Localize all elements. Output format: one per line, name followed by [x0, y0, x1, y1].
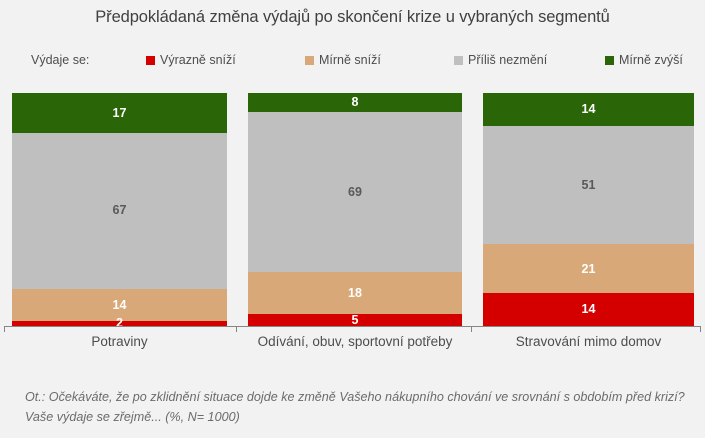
bar-segment-value: 14: [113, 299, 127, 312]
bar-segment-value: 67: [113, 204, 127, 217]
stacked-bar[interactable]: 14512114: [483, 93, 694, 326]
bar-segment[interactable]: 14: [483, 293, 694, 326]
axis-tick: [236, 327, 237, 332]
legend-item[interactable]: Mírně zvýší: [605, 53, 683, 67]
chart-legend: Výdaje se: Výrazně snížíMírně snížíPříli…: [0, 49, 705, 71]
legend-item[interactable]: Příliš nezmění: [454, 53, 547, 67]
category-label: Potraviny: [12, 334, 227, 349]
bar-segment-value: 14: [582, 303, 596, 316]
bar-segment-value: 18: [348, 287, 362, 300]
bar-segment[interactable]: 67: [12, 133, 227, 289]
legend-title: Výdaje se:: [31, 53, 89, 67]
legend-item-label: Mírně zvýší: [619, 53, 683, 67]
bar-segment-value: 8: [352, 96, 359, 109]
x-axis-line: [4, 326, 701, 327]
category-label: Stravování mimo domov: [483, 334, 694, 349]
bar-segment[interactable]: 17: [12, 93, 227, 133]
bar-segment[interactable]: 5: [248, 314, 462, 326]
plot-area: 176714286918514512114: [0, 86, 705, 327]
legend-swatch-icon: [305, 56, 314, 65]
chart-footnote: Ot.: Očekáváte, že po zklidnění situace …: [25, 388, 685, 427]
chart-title: Předpokládaná změna výdajů po skončení k…: [0, 8, 705, 27]
axis-tick: [700, 327, 701, 332]
legend-swatch-icon: [605, 56, 614, 65]
legend-item[interactable]: Výrazně sníží: [146, 53, 236, 67]
category-label: Odívání, obuv, sportovní potřeby: [248, 334, 462, 349]
axis-tick: [471, 327, 472, 332]
bar-segment-value: 69: [348, 186, 362, 199]
legend-swatch-icon: [454, 56, 463, 65]
legend-item-label: Mírně sníží: [319, 53, 381, 67]
bar-segment[interactable]: 21: [483, 244, 694, 293]
stacked-bar[interactable]: 1767142: [12, 93, 227, 326]
legend-item-label: Příliš nezmění: [468, 53, 547, 67]
x-axis-category-labels: PotravinyOdívání, obuv, sportovní potřeb…: [0, 334, 705, 360]
bar-segment[interactable]: 51: [483, 126, 694, 245]
axis-tick: [4, 327, 5, 332]
bar-segment-value: 2: [116, 317, 123, 330]
legend-item[interactable]: Mírně sníží: [305, 53, 381, 67]
bar-segment-value: 21: [582, 263, 596, 276]
bar-segment[interactable]: 8: [248, 93, 462, 112]
legend-item-label: Výrazně sníží: [160, 53, 236, 67]
bar-segment-value: 51: [582, 179, 596, 192]
bar-segment-value: 17: [113, 107, 127, 120]
stacked-bar[interactable]: 869185: [248, 93, 462, 326]
bar-segment[interactable]: 69: [248, 112, 462, 273]
bar-segment[interactable]: 18: [248, 272, 462, 314]
legend-swatch-icon: [146, 56, 155, 65]
bar-segment[interactable]: 14: [483, 93, 694, 126]
bar-segment-value: 14: [582, 103, 596, 116]
bar-segment-value: 5: [352, 314, 359, 327]
